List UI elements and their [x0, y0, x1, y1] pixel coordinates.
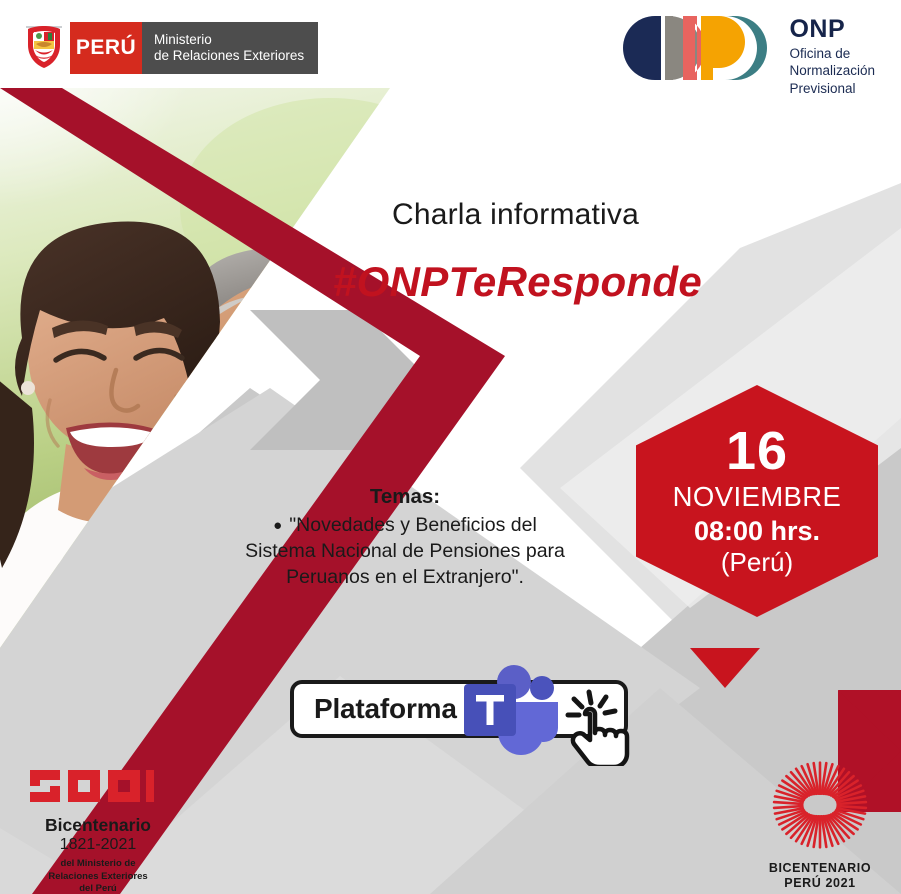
bicentenario-org-line-3: del Perú — [12, 883, 184, 894]
topics-title: Temas: — [150, 485, 660, 509]
bicentenario-peru-line-2: PERÚ 2021 — [745, 876, 895, 891]
click-hand-cursor-icon — [565, 686, 643, 766]
peru-coat-of-arms-icon — [18, 22, 70, 74]
platform-label: Plataforma — [294, 693, 457, 725]
header-bar: PERÚ Ministerio de Relaciones Exteriores — [0, 0, 901, 88]
onp-subtitle-line-2: Normalización — [789, 62, 875, 79]
bicentenario-200-icon — [28, 760, 168, 812]
ministry-label: Ministerio de Relaciones Exteriores — [142, 22, 318, 74]
peru-ministry-logo: PERÚ Ministerio de Relaciones Exteriores — [18, 22, 318, 74]
ministry-line-1: Ministerio — [154, 32, 304, 48]
bicentenario-peru-text: BICENTENARIO PERÚ 2021 — [745, 861, 895, 891]
page-eyebrow: Charla informativa — [0, 198, 901, 232]
topics-body: ●"Novedades y Beneficios del Sistema Nac… — [150, 513, 660, 591]
platform-badge[interactable]: Plataforma — [290, 680, 638, 742]
poster-canvas: Charla informativa #ONPTeResponde Temas:… — [0, 0, 901, 894]
onp-logo-mark-icon — [621, 14, 773, 82]
bicentenario-peru-logo: BICENTENARIO PERÚ 2021 — [745, 755, 895, 891]
bicentenario-peru-burst-icon — [762, 755, 878, 859]
bicentenario-org-line-1: del Ministerio de — [12, 858, 184, 870]
topics-item-text-1: "Novedades y Beneficios del — [289, 514, 537, 536]
bullet-icon: ● — [273, 517, 282, 534]
date-badge: 16 NOVIEMBRE 08:00 hrs. (Perú) — [636, 385, 878, 617]
bicentenario-org-line-2: Relaciones Exteriores — [12, 871, 184, 883]
peru-label: PERÚ — [70, 22, 142, 74]
bicentenario-years: 1821-2021 — [12, 835, 184, 855]
date-day: 16 — [726, 426, 788, 477]
date-timezone: (Perú) — [721, 548, 793, 577]
page-title-hashtag: #ONPTeResponde — [0, 258, 901, 306]
bicentenario-title: Bicentenario — [12, 816, 184, 834]
ministry-line-2: de Relaciones Exteriores — [154, 48, 304, 64]
topics-item-line-1: ●"Novedades y Beneficios del — [150, 513, 660, 539]
onp-subtitle-line-1: Oficina de — [789, 45, 875, 62]
bicentenario-peru-line-1: BICENTENARIO — [745, 861, 895, 876]
onp-acronym: ONP — [789, 17, 875, 42]
date-month: NOVIEMBRE — [673, 481, 842, 513]
topics-item-line-2: Sistema Nacional de Pensiones para — [150, 539, 660, 565]
onp-subtitle-line-3: Previsional — [789, 80, 875, 97]
bicentenario-ministry-logo: Bicentenario 1821-2021 del Ministerio de… — [12, 760, 184, 894]
onp-subtitle: Oficina de Normalización Previsional — [789, 45, 875, 97]
onp-text-block: ONP Oficina de Normalización Previsional — [789, 14, 875, 97]
date-badge-content: 16 NOVIEMBRE 08:00 hrs. (Perú) — [636, 385, 878, 617]
date-time: 08:00 hrs. — [694, 517, 820, 547]
bicentenario-org: del Ministerio de Relaciones Exteriores … — [12, 858, 184, 894]
topics-item-line-3: Peruanos en el Extranjero". — [150, 565, 660, 591]
microsoft-teams-icon — [456, 662, 560, 758]
topics-block: Temas: ●"Novedades y Beneficios del Sist… — [150, 485, 660, 591]
onp-logo: ONP Oficina de Normalización Previsional — [621, 14, 875, 97]
